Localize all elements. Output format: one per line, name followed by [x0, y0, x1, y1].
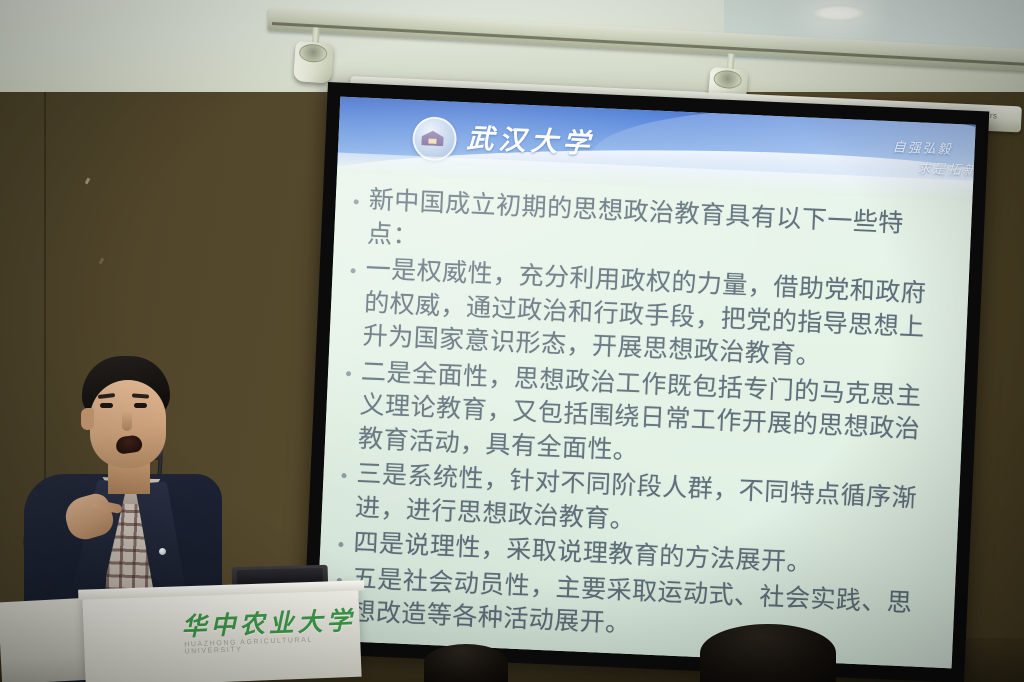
slide-motto: 自强弘毅 求是拓新 [891, 137, 953, 180]
spotlight-lens [713, 69, 742, 89]
projection-screen: 武汉大学 自强弘毅 求是拓新 新中国成立初期的思想政治教育具有以下一些特点： 一… [303, 82, 990, 682]
presentation-slide: 武汉大学 自强弘毅 求是拓新 新中国成立初期的思想政治教育具有以下一些特点： 一… [316, 97, 976, 669]
bullet-dot-icon [351, 268, 356, 273]
spotlight-head [293, 41, 334, 84]
speaker-lapel-pin [159, 548, 166, 555]
motto-line-1: 自强弘毅 [892, 137, 953, 160]
audience-head [700, 624, 836, 682]
recessed-downlight-icon [812, 5, 866, 21]
speaker-ear [81, 408, 94, 430]
bullet-dot-icon [338, 542, 343, 547]
bullet-dot-icon [341, 473, 346, 478]
lectern-podium: 华中农业大学 HUAZHONG AGRICULTURAL UNIVERSITY [82, 587, 361, 682]
slide-university-name: 武汉大学 [466, 116, 596, 161]
podium-side-panel [0, 598, 94, 682]
bullet-dot-icon [346, 371, 351, 376]
bullet-dot-icon [354, 199, 359, 204]
speaker-nose [122, 411, 132, 431]
speaker-eye [100, 403, 113, 408]
lecture-photo-scene: ThreeStars 武汉大学 自强弘毅 求是拓新 [0, 0, 1024, 682]
slide-body: 新中国成立初期的思想政治教育具有以下一些特点： 一是权威性，充分利用政权的力量，… [316, 172, 972, 668]
emblem-gate-window [428, 139, 436, 144]
audience-head [424, 644, 508, 682]
speaker-eye [134, 403, 147, 408]
spotlight-lens [299, 43, 328, 63]
